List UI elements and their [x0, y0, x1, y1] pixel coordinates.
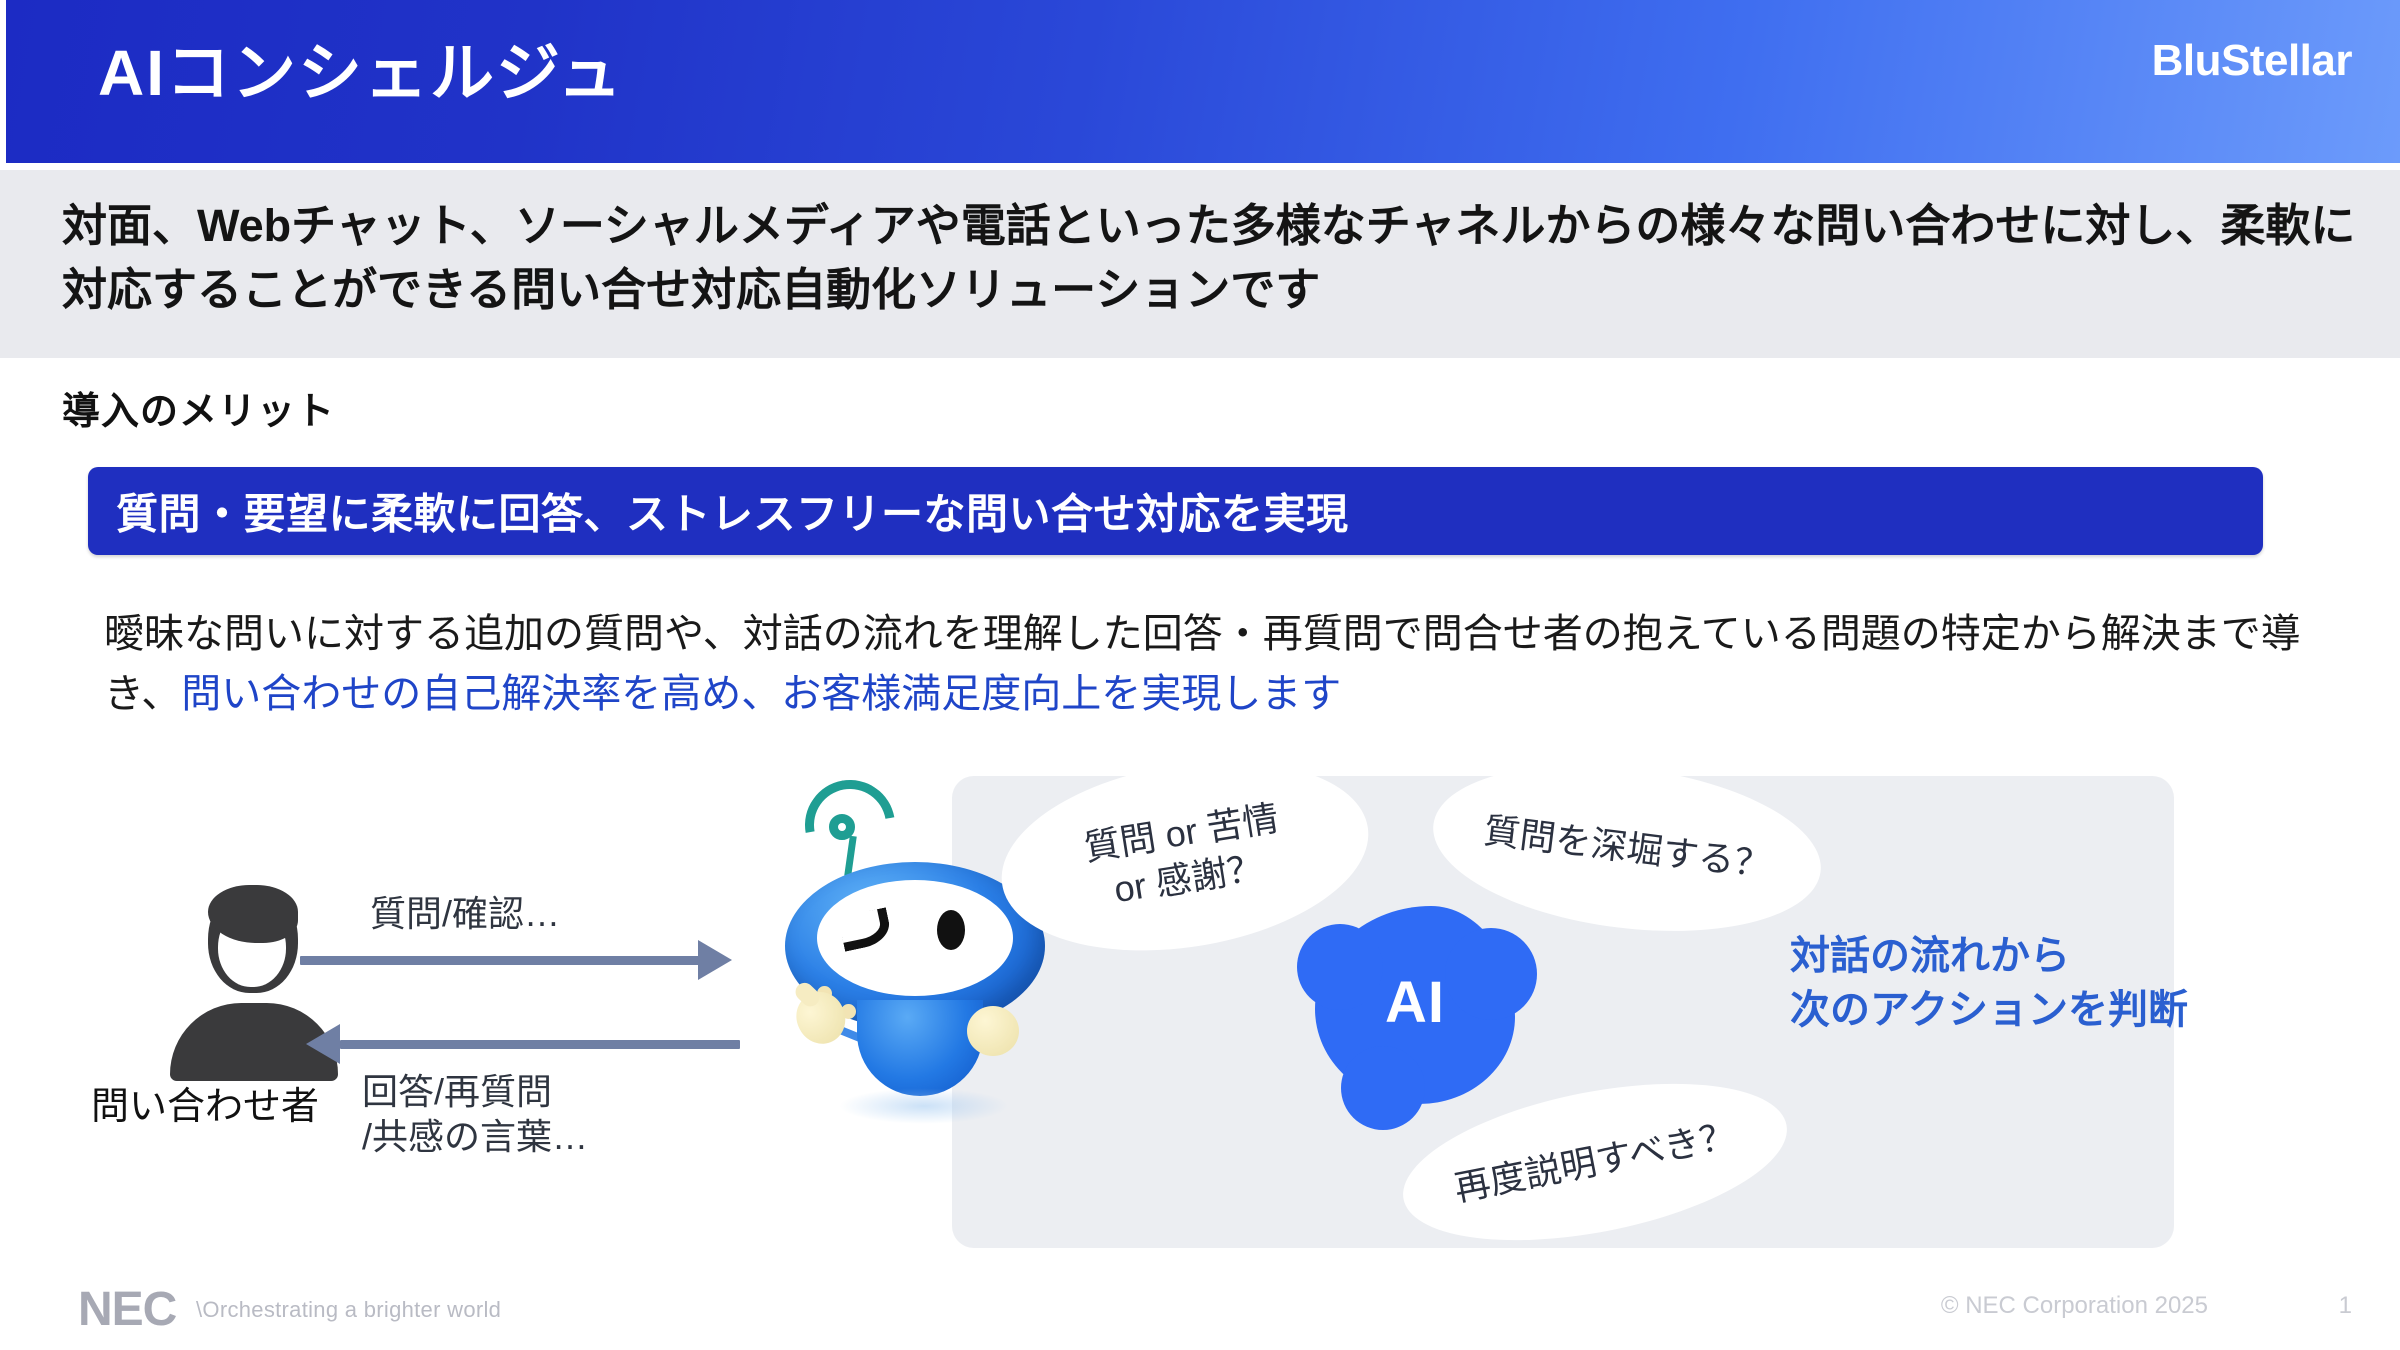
ai-blob-lobe-3: [1341, 1046, 1425, 1130]
thought-bubble-2-text: 質問を深堀する？: [1463, 805, 1790, 890]
nec-logo: NEC: [78, 1282, 176, 1337]
copyright-text: © NEC Corporation 2025: [1941, 1292, 2208, 1320]
slide-header: AIコンシェルジュ BluStellar: [6, 0, 2400, 163]
arrow-to-user-label: 回答/再質問 /共感の言葉…: [362, 1070, 588, 1159]
robot-mascot-icon: [775, 770, 1055, 1130]
page-number: 1: [2339, 1292, 2352, 1320]
lead-text: 対面、Webチャット、ソーシャルメディアや電話といった多様なチャネルからの様々な…: [62, 194, 2362, 322]
arrow-to-bot-label: 質問/確認…: [370, 892, 560, 937]
thought-bubble-3-text: 再度説明すべき？: [1433, 1109, 1757, 1216]
ai-blob-label: AI: [1315, 969, 1515, 1036]
body-paragraph: 曖昧な問いに対する追加の質問や、対話の流れを理解した回答・再質問で問合せ者の抱え…: [104, 604, 2344, 724]
section-label: 導入のメリット: [62, 380, 335, 435]
lead-band: 対面、Webチャット、ソーシャルメディアや電話といった多様なチャネルからの様々な…: [0, 170, 2400, 358]
robot-body-icon: [857, 1000, 983, 1096]
inquirer-label: 問い合わせ者: [40, 1075, 370, 1130]
thought-bubble-1-text: 質問 or 苦情 or 感謝？: [1063, 792, 1307, 919]
page-title: AIコンシェルジュ: [98, 22, 624, 114]
benefit-banner-text: 質問・要望に柔軟に回答、ストレスフリーな問い合せ対応を実現: [116, 481, 1349, 542]
robot-open-eye-icon: [937, 910, 965, 950]
nec-tagline: \Orchestrating a brighter world: [196, 1297, 501, 1323]
footer-divider: [0, 1272, 2400, 1273]
body-line-1: 曖昧な問いに対する追加の質問や、対話の流れを理解した回答・再質問で問合せ者の抱え…: [104, 612, 1821, 656]
arrow-to-bot-head-icon: [698, 940, 732, 980]
body-line-2-highlight: 問い合わせの自己解決率を高め、お客様満足度向上を実現します: [181, 672, 1341, 716]
header-divider: [0, 163, 2400, 170]
arrow-to-bot-line: [300, 956, 700, 965]
ai-blob-icon: AI: [1315, 906, 1515, 1104]
robot-right-hand-icon: [967, 1006, 1019, 1056]
flow-diagram: 問い合わせ者 質問/確認… 回答/再質問 /共感の言葉…: [0, 740, 2400, 1260]
robot-shadow: [839, 1088, 1009, 1124]
arrow-to-user-line: [340, 1040, 740, 1049]
ai-caption: 対話の流れから 次のアクションを判断: [1790, 930, 2188, 1037]
arrow-to-user-head-icon: [306, 1024, 340, 1064]
slide: AIコンシェルジュ BluStellar 対面、Webチャット、ソーシャルメディ…: [0, 0, 2400, 1350]
brand-logo: BluStellar: [2152, 36, 2352, 86]
benefit-banner: 質問・要望に柔軟に回答、ストレスフリーな問い合せ対応を実現: [88, 467, 2263, 555]
